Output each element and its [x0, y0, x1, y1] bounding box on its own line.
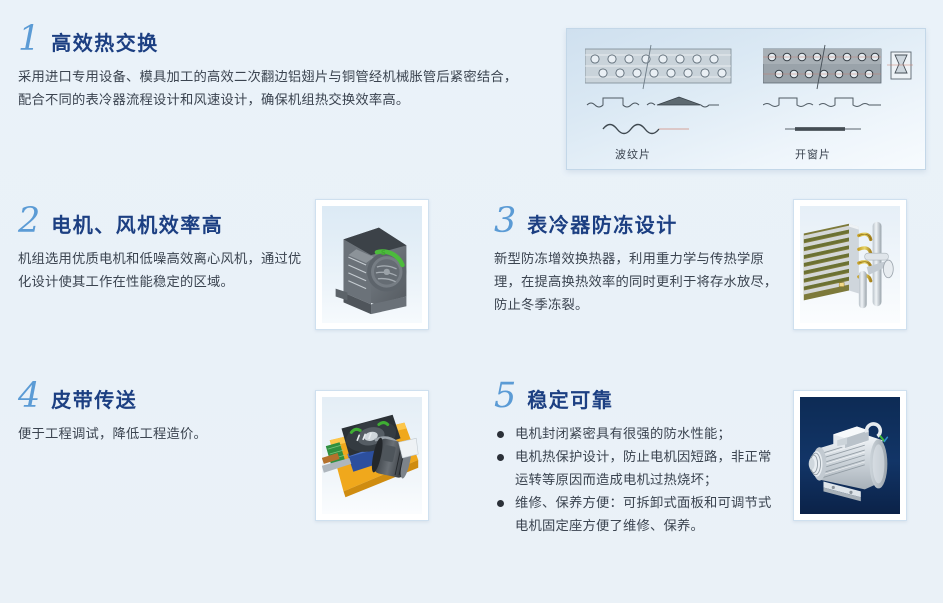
louvered-fin-art — [763, 43, 913, 143]
electric-motor-art — [800, 397, 900, 514]
section-3-number: 3 — [494, 204, 516, 239]
corrugated-fin-art — [585, 43, 735, 143]
list-item: 电机封闭紧密具有很强的防水性能； — [494, 423, 784, 446]
section-2-title: 电机、风机效率高 — [51, 215, 223, 235]
finned-coil-photo — [793, 199, 907, 330]
feature-section-4: 4 皮带传送 便于工程调试，降低工程造价。 — [18, 379, 303, 446]
section-5-number: 5 — [494, 379, 516, 414]
section-3-body: 新型防冻增效换热器，利用重力学与传热学原理，在提高换热效率的同时更利于将存水放尽… — [494, 248, 784, 317]
section-5-title: 稳定可靠 — [527, 390, 613, 410]
section-4-number: 4 — [18, 379, 40, 414]
section-1-title: 高效热交换 — [51, 33, 159, 53]
section-4-title: 皮带传送 — [51, 390, 137, 410]
section-5-bullet-list: 电机封闭紧密具有很强的防水性能； 电机热保护设计，防止电机因短路，非正常运转等原… — [494, 423, 784, 538]
finned-coil-art — [800, 206, 900, 323]
centrifugal-blower-photo: S — [315, 199, 429, 330]
louvered-fin-diagram — [763, 43, 913, 143]
section-4-body: 便于工程调试，降低工程造价。 — [18, 423, 303, 446]
belt-drive-art — [322, 397, 422, 514]
section-2-number: 2 — [18, 204, 40, 239]
section-3-heading: 3 表冷器防冻设计 — [494, 204, 784, 239]
section-1-body: 采用进口专用设备、模具加工的高效二次翻边铝翅片与铜管经机械胀管后紧密结合， 配合… — [18, 66, 548, 112]
feature-section-5: 5 稳定可靠 电机封闭紧密具有很强的防水性能； 电机热保护设计，防止电机因短路，… — [494, 379, 784, 538]
section-2-heading: 2 电机、风机效率高 — [18, 204, 303, 239]
feature-section-3: 3 表冷器防冻设计 新型防冻增效换热器，利用重力学与传热学原理，在提高换热效率的… — [494, 204, 784, 317]
feature-section-1: 1 高效热交换 采用进口专用设备、模具加工的高效二次翻边铝翅片与铜管经机械胀管后… — [18, 22, 548, 112]
feature-section-2: 2 电机、风机效率高 机组选用优质电机和低噪高效离心风机，通过优化设计使其工作在… — [18, 204, 303, 294]
blower-art: S — [322, 206, 422, 323]
corrugated-fin-diagram — [585, 43, 735, 143]
section-1-heading: 1 高效热交换 — [18, 22, 548, 57]
fin-type-illustration-panel: 波纹片 开窗片 — [566, 28, 926, 170]
svg-text:S: S — [381, 249, 386, 257]
section-1-number: 1 — [18, 22, 40, 57]
section-1-line-1: 采用进口专用设备、模具加工的高效二次翻边铝翅片与铜管经机械胀管后紧密结合， — [18, 66, 548, 89]
belt-drive-photo — [315, 390, 429, 521]
section-1-line-2: 配合不同的表冷器流程设计和风速设计，确保机组热交换效率高。 — [18, 89, 548, 112]
louvered-fin-caption: 开窗片 — [795, 146, 831, 162]
section-3-title: 表冷器防冻设计 — [527, 215, 678, 235]
electric-motor-photo — [793, 390, 907, 521]
section-5-heading: 5 稳定可靠 — [494, 379, 784, 414]
list-item: 电机热保护设计，防止电机因短路，非正常运转等原因而造成电机过热烧坏； — [494, 446, 784, 492]
section-2-body: 机组选用优质电机和低噪高效离心风机，通过优化设计使其工作在性能稳定的区域。 — [18, 248, 303, 294]
corrugated-fin-caption: 波纹片 — [615, 146, 651, 162]
product-feature-page: 1 高效热交换 采用进口专用设备、模具加工的高效二次翻边铝翅片与铜管经机械胀管后… — [0, 0, 943, 603]
list-item: 维修、保养方便：可拆卸式面板和可调节式电机固定座方便了维修、保养。 — [494, 492, 784, 538]
section-4-heading: 4 皮带传送 — [18, 379, 303, 414]
